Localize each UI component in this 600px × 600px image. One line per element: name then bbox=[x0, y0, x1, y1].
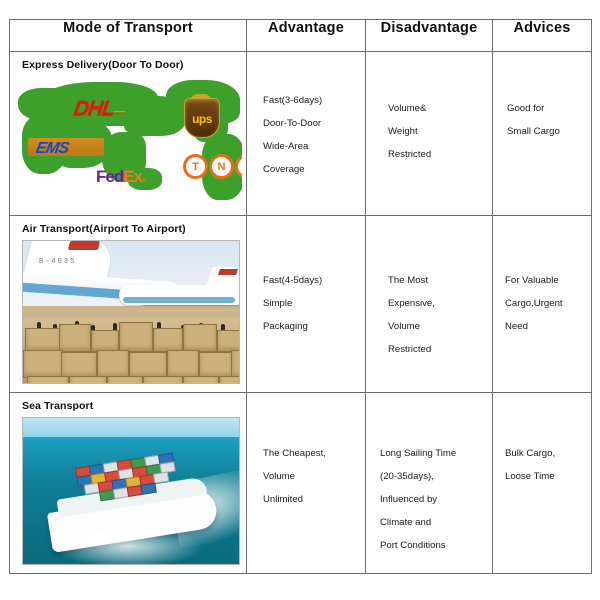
header-advantage: Advantage bbox=[247, 20, 366, 52]
tnt-logo: T N T bbox=[183, 154, 242, 179]
tnt-ring-t1: T bbox=[183, 154, 208, 179]
cell-advantage-air: Fast(4-5days) Simple Packaging bbox=[247, 215, 366, 392]
mode-label-sea: Sea Transport bbox=[10, 393, 246, 417]
cell-disadvantage-sea: Long Sailing Time (20-35days), Influence… bbox=[366, 392, 493, 573]
cell-mode-sea: Sea Transport bbox=[10, 392, 247, 573]
advantage-text-sea: The Cheapest, Volume Unlimited bbox=[247, 393, 365, 505]
table-header-row: Mode of Transport Advantage Disadvantage… bbox=[10, 20, 592, 52]
header-mode-of-transport: Mode of Transport bbox=[10, 20, 247, 52]
table-row: Express Delivery(Door To Door) bbox=[10, 52, 592, 216]
tnt-ring-t2: T bbox=[235, 154, 242, 179]
cell-mode-air: Air Transport(Airport To Airport) B-4035 bbox=[10, 215, 247, 392]
disadvantage-text-express: Volume& Weight Restricted bbox=[366, 52, 492, 160]
advices-text-sea: Bulk Cargo, Loose Time bbox=[493, 393, 591, 482]
ups-logo bbox=[184, 98, 220, 138]
disadvantage-text-air: The Most Expensive, Volume Restricted bbox=[366, 216, 492, 355]
cargo-aircraft-photo: B-4035 bbox=[22, 240, 240, 384]
ems-logo: EMS bbox=[34, 140, 69, 158]
cargo-boxes bbox=[23, 320, 239, 382]
advantage-text-express: Fast(3-6days) Door-To-Door Wide-Area Cov… bbox=[247, 52, 365, 175]
cell-advices-express: Good for Small Cargo bbox=[493, 52, 592, 216]
container-ship-photo bbox=[22, 417, 240, 565]
disadvantage-text-sea: Long Sailing Time (20-35days), Influence… bbox=[366, 393, 492, 551]
table-row: Air Transport(Airport To Airport) B-4035 bbox=[10, 215, 592, 392]
cell-advices-air: For Valuable Cargo,Urgent Need bbox=[493, 215, 592, 392]
dhl-logo: DHL— bbox=[72, 97, 126, 121]
cell-advices-sea: Bulk Cargo, Loose Time bbox=[493, 392, 592, 573]
cell-mode-express: Express Delivery(Door To Door) bbox=[10, 52, 247, 216]
comparison-sheet: Mode of Transport Advantage Disadvantage… bbox=[0, 0, 600, 600]
cell-advantage-express: Fast(3-6days) Door-To-Door Wide-Area Cov… bbox=[247, 52, 366, 216]
header-disadvantage: Disadvantage bbox=[366, 20, 493, 52]
cell-advantage-sea: The Cheapest, Volume Unlimited bbox=[247, 392, 366, 573]
cell-disadvantage-air: The Most Expensive, Volume Restricted bbox=[366, 215, 493, 392]
world-map-courier-logos: DHL— EMS FedEx® T N T bbox=[16, 76, 242, 210]
advantage-text-air: Fast(4-5days) Simple Packaging bbox=[247, 216, 365, 332]
table-row: Sea Transport bbox=[10, 392, 592, 573]
transport-comparison-table: Mode of Transport Advantage Disadvantage… bbox=[9, 19, 592, 574]
fedex-logo: FedEx® bbox=[96, 167, 146, 187]
mode-label-express: Express Delivery(Door To Door) bbox=[10, 52, 246, 76]
cell-disadvantage-express: Volume& Weight Restricted bbox=[366, 52, 493, 216]
tnt-ring-n: N bbox=[209, 154, 234, 179]
aircraft-registration: B-4035 bbox=[39, 258, 76, 266]
advices-text-air: For Valuable Cargo,Urgent Need bbox=[493, 216, 591, 332]
advices-text-express: Good for Small Cargo bbox=[493, 52, 591, 137]
mode-label-air: Air Transport(Airport To Airport) bbox=[10, 216, 246, 240]
header-advices: Advices bbox=[493, 20, 592, 52]
